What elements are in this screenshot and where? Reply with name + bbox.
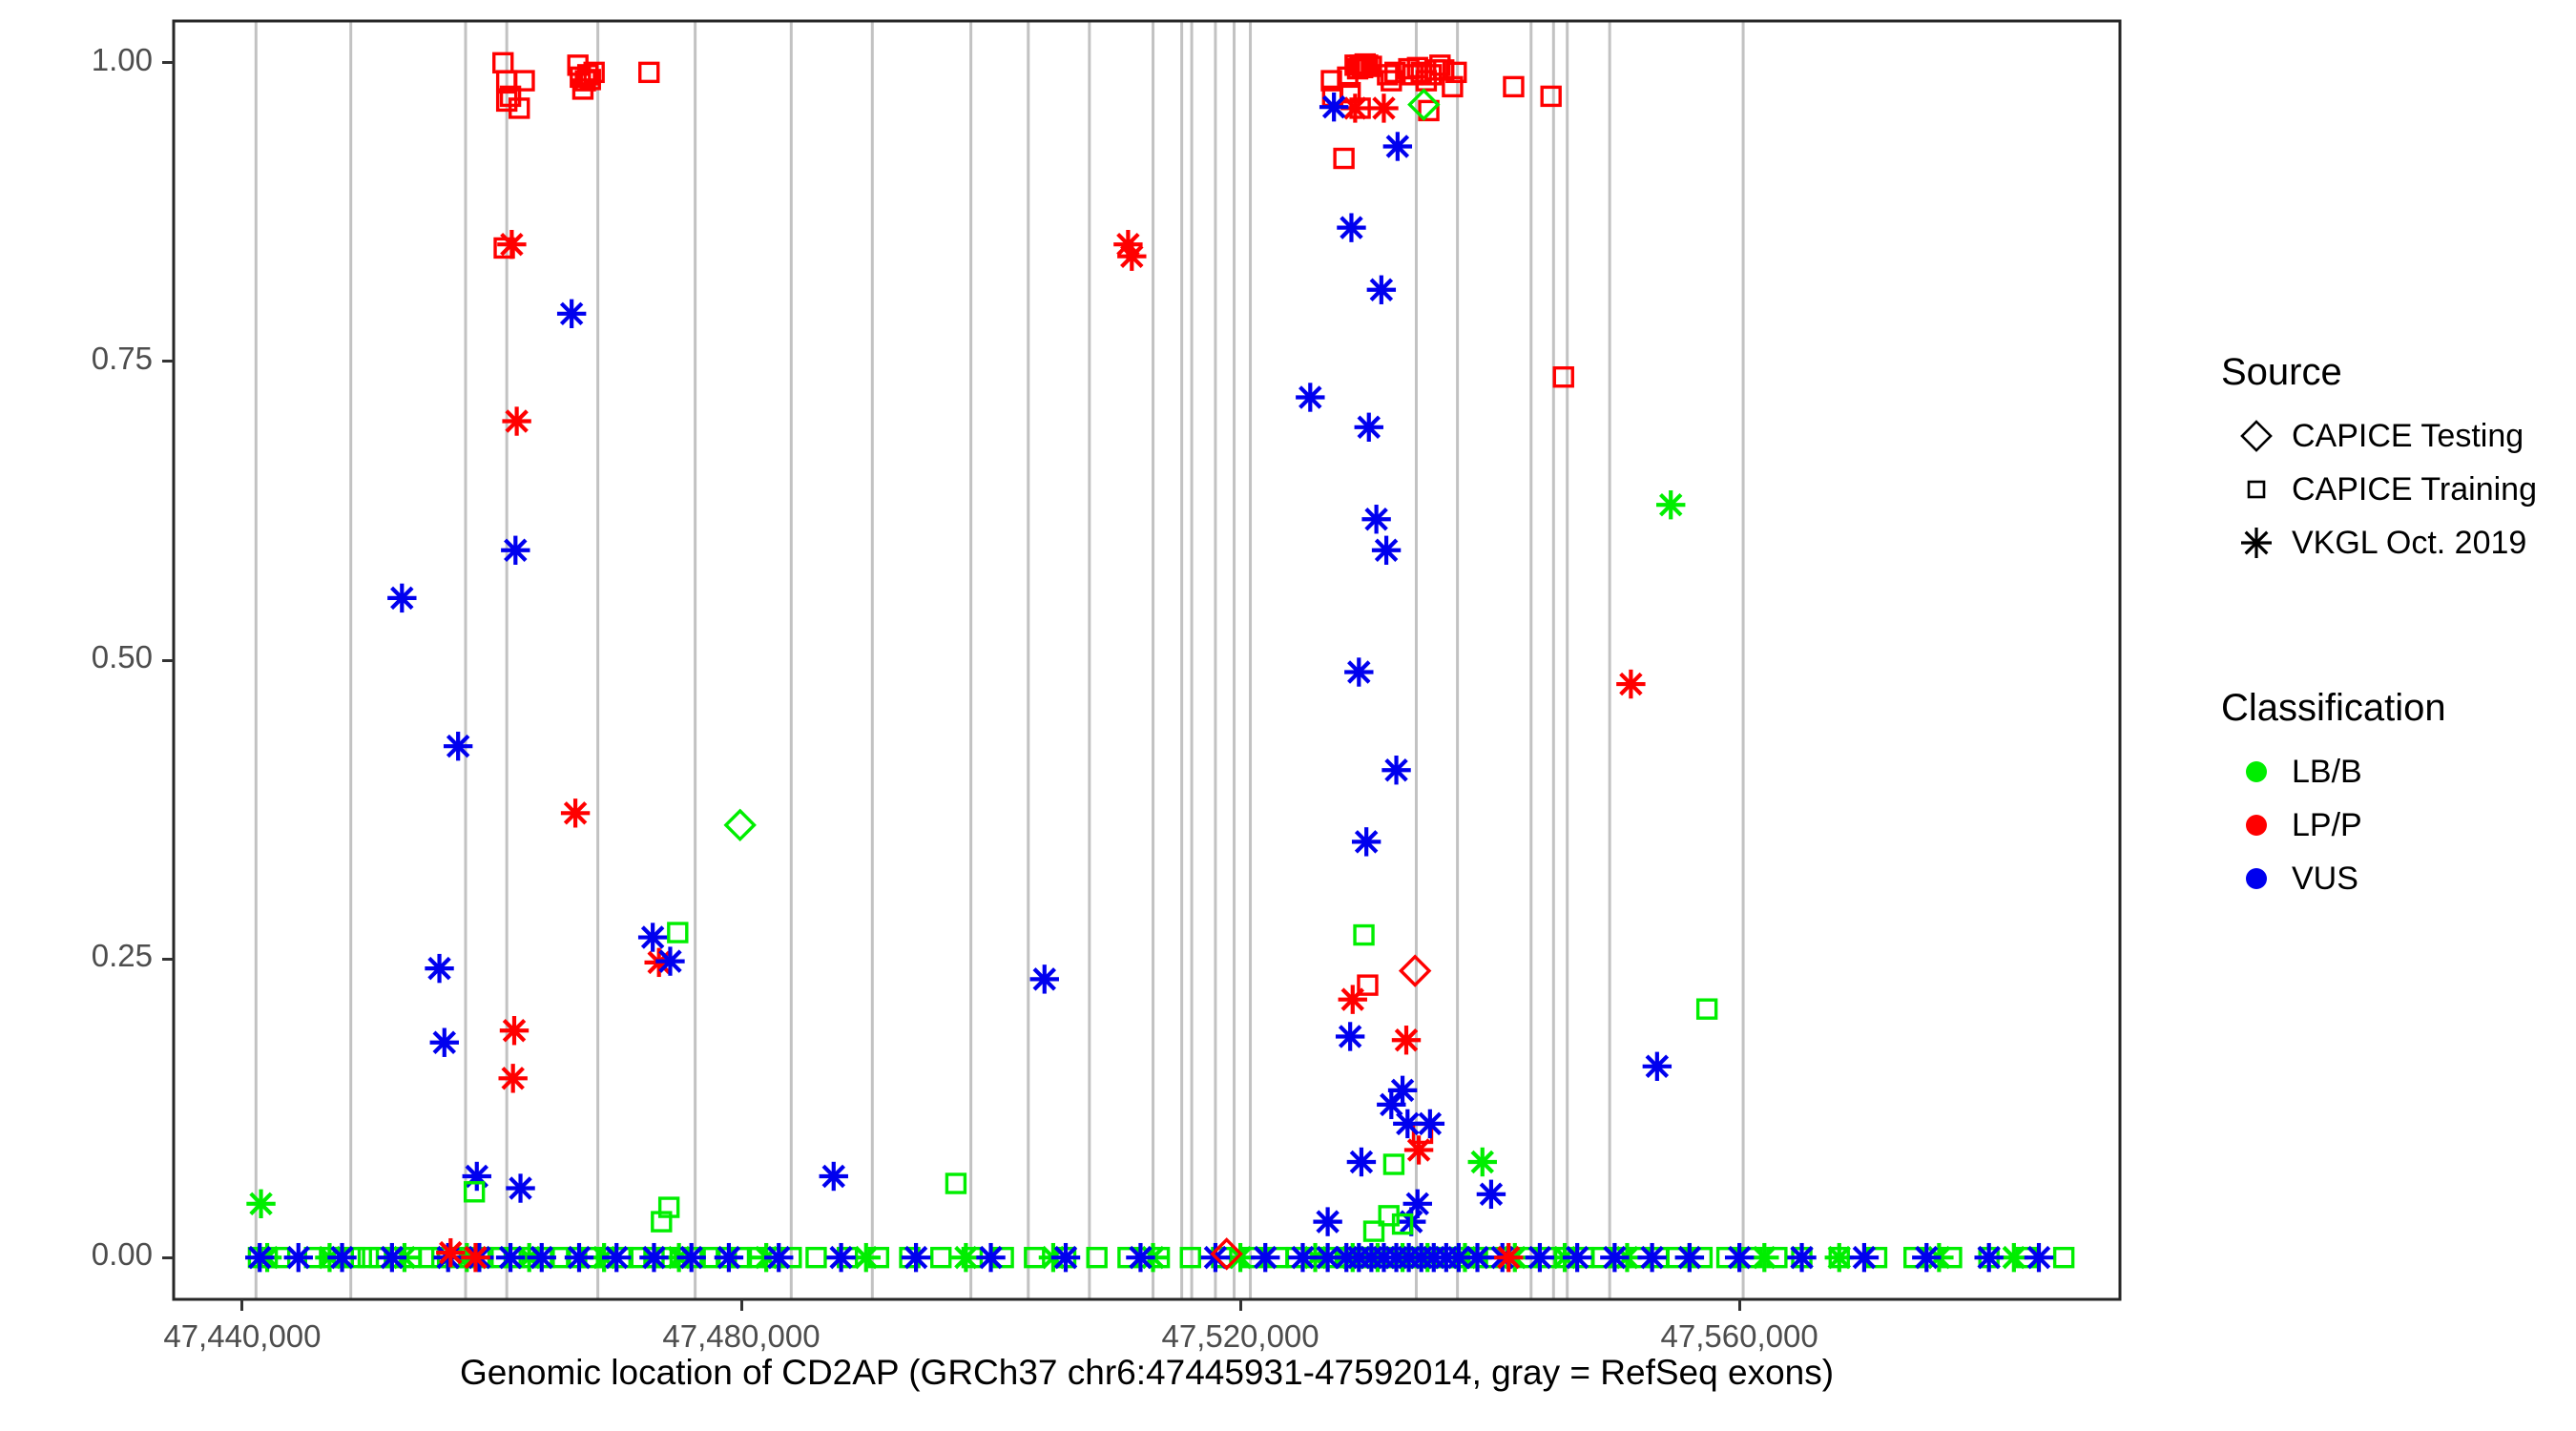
data-point-asterisk [506,1173,534,1202]
legend-item-label: VUS [2292,861,2358,898]
square-icon [2234,467,2278,511]
x-tick-label: 47,520,000 [1161,1318,1319,1355]
legend-item-lb-b[interactable]: LB/B [2221,745,2446,798]
y-tick-label: 0.50 [92,639,153,675]
data-point-asterisk [496,1243,525,1272]
legend-key [2221,467,2292,511]
legend-item-vus[interactable]: VUS [2221,852,2446,905]
data-point-asterisk [1388,1076,1417,1105]
data-point-asterisk [1383,132,1412,160]
data-point-asterisk [1616,670,1645,698]
legend-key [2221,803,2292,847]
data-point-asterisk [1643,1052,1672,1081]
data-point-asterisk [444,732,472,760]
data-point-asterisk [1675,1243,1704,1272]
y-tick-mark [162,659,174,662]
data-point-asterisk [1126,1243,1154,1272]
data-point-asterisk [1825,1243,1854,1272]
data-point-asterisk [501,536,530,565]
x-tick-mark [1239,1299,1242,1311]
data-point-asterisk [2025,1243,2053,1272]
scatter-plot-panel: CAPICE score (pathogenicity estimate) Ge… [0,0,2194,1431]
legend-item-label: LP/P [2292,807,2362,844]
data-point-asterisk [826,1243,855,1272]
data-point-asterisk [1850,1243,1879,1272]
data-point-asterisk [638,923,667,951]
data-point-asterisk [1725,1243,1754,1272]
y-tick-label: 0.75 [92,341,153,377]
data-point-asterisk [1750,1243,1778,1272]
data-point-asterisk [561,798,590,827]
legend-classification-group: Classification LB/BLP/PVUS [2221,687,2446,905]
legend-item-capice-testing[interactable]: CAPICE Testing [2221,409,2537,463]
legend-key [2221,414,2292,458]
data-point-asterisk [1030,964,1059,993]
data-point-asterisk [1463,1243,1491,1272]
data-point-asterisk [1367,276,1396,304]
x-tick-label: 47,440,000 [163,1318,321,1355]
data-point-asterisk [500,1016,529,1045]
data-point-asterisk [1339,985,1367,1013]
data-point-asterisk [1337,213,1365,241]
y-tick-mark [162,1256,174,1259]
legend-item-label: CAPICE Testing [2292,418,2524,455]
asterisk-icon [2234,521,2278,565]
data-point-asterisk [1563,1243,1591,1272]
legend-source-title: Source [2221,351,2537,394]
data-point-asterisk [1344,657,1373,686]
data-point-asterisk [715,1243,743,1272]
legend-key [2221,857,2292,901]
data-point-asterisk [1600,1243,1629,1272]
data-point-asterisk [1787,1243,1816,1272]
data-point-asterisk [1392,1026,1421,1054]
data-point-asterisk [1494,1243,1523,1272]
data-point-asterisk [461,1243,489,1272]
data-point-asterisk [602,1243,631,1272]
data-point-asterisk [1416,1110,1444,1138]
x-tick-label: 47,560,000 [1661,1318,1818,1355]
data-point-asterisk [655,946,684,975]
data-point-asterisk [820,1162,848,1191]
data-point-asterisk [1226,1243,1255,1272]
legend-item-lp-p[interactable]: LP/P [2221,798,2446,852]
y-tick-label: 0.25 [92,938,153,974]
data-point-asterisk [246,1190,275,1218]
data-point-asterisk [565,1243,593,1272]
legend-item-label: LB/B [2292,754,2362,791]
data-point-asterisk [1319,93,1348,121]
x-tick-mark [240,1299,243,1311]
data-point-asterisk [1974,1243,2003,1272]
x-tick-mark [1738,1299,1741,1311]
x-tick-label: 47,480,000 [662,1318,820,1355]
data-point-asterisk [1369,93,1398,122]
data-point-asterisk [902,1243,930,1272]
data-point-asterisk [1381,756,1410,784]
data-point-asterisk [1296,383,1324,411]
data-point-asterisk [1526,1243,1554,1272]
data-point-asterisk [378,1243,406,1272]
legend-panel: Source CAPICE TestingCAPICE TrainingVKGL… [2194,0,2576,1431]
legend-source-group: Source CAPICE TestingCAPICE TrainingVKGL… [2221,351,2537,570]
x-tick-mark [740,1299,743,1311]
data-point-asterisk [1468,1148,1497,1176]
data-point-asterisk [284,1243,313,1272]
legend-item-label: VKGL Oct. 2019 [2292,525,2526,562]
data-point-asterisk [528,1243,556,1272]
data-point-asterisk [1912,1243,1941,1272]
data-point-asterisk [387,584,416,612]
circle-icon [2234,857,2278,901]
y-tick-label: 1.00 [92,42,153,78]
legend-item-capice-training[interactable]: CAPICE Training [2221,463,2537,516]
data-point-asterisk [1347,1148,1376,1176]
data-point-asterisk [498,1064,527,1092]
chart-page: CAPICE score (pathogenicity estimate) Ge… [0,0,2576,1431]
legend-key [2221,750,2292,794]
data-point-asterisk [1637,1243,1666,1272]
data-point-asterisk [1355,413,1383,442]
data-point-asterisk [1051,1243,1080,1272]
legend-item-vkgl-oct-2019[interactable]: VKGL Oct. 2019 [2221,516,2537,570]
data-point-asterisk [497,230,526,259]
data-point-asterisk [1352,827,1381,856]
legend-key [2221,521,2292,565]
data-point-asterisk [1251,1243,1279,1272]
plot-svg [0,0,2194,1431]
y-tick-mark [162,360,174,363]
circle-icon [2234,803,2278,847]
data-point-asterisk [2000,1243,2028,1272]
data-point-asterisk [676,1243,705,1272]
diamond-icon [2234,414,2278,458]
data-point-asterisk [1288,1243,1317,1272]
data-point-asterisk [1404,1135,1433,1164]
circle-icon [2234,750,2278,794]
x-axis-title: Genomic location of CD2AP (GRCh37 chr6:4… [174,1353,2120,1393]
data-point-asterisk [436,1238,465,1267]
data-point-asterisk [1477,1180,1506,1209]
y-tick-mark [162,61,174,64]
data-point-asterisk [1372,536,1401,565]
legend-classification-title: Classification [2221,687,2446,730]
data-point-asterisk [852,1243,881,1272]
data-point-asterisk [425,954,453,983]
y-tick-mark [162,958,174,961]
legend-item-label: CAPICE Training [2292,471,2537,508]
data-point-asterisk [764,1243,793,1272]
data-point-asterisk [976,1243,1005,1272]
data-point-asterisk [430,1028,459,1057]
data-point-asterisk [1656,490,1685,519]
data-point-asterisk [1336,1022,1364,1050]
data-point-asterisk [502,406,530,435]
data-point-asterisk [557,300,586,328]
data-point-asterisk [639,1243,668,1272]
data-point-asterisk [1117,242,1146,271]
y-tick-label: 0.00 [92,1236,153,1273]
data-point-asterisk [245,1243,274,1272]
data-point-asterisk [1361,505,1390,533]
data-point-asterisk [327,1243,356,1272]
data-point-asterisk [951,1243,980,1272]
data-point-asterisk [1313,1207,1341,1235]
